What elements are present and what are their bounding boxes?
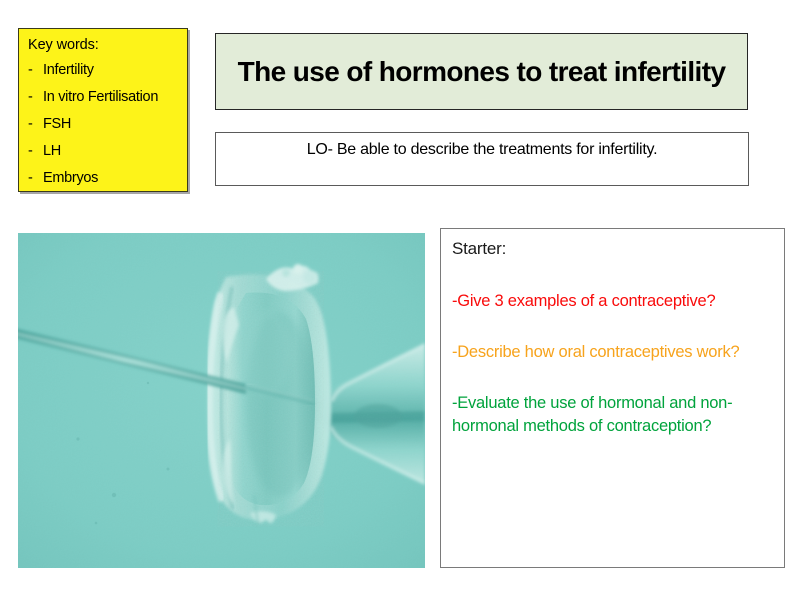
starter-label: Starter: [452,238,774,260]
bullet-dash-icon: - [28,138,43,165]
learning-objective-text: LO- Be able to describe the treatments f… [307,140,658,160]
bullet-dash-icon: - [28,57,43,84]
key-words-box: Key words: - Infertility - In vitro Fert… [18,28,188,192]
page-title: The use of hormones to treat infertility [238,56,726,88]
bullet-dash-icon: - [28,84,43,111]
icsi-micrograph-svg [18,233,425,568]
starter-question-1: -Give 3 examples of a contraceptive? [452,290,774,313]
key-word-label: In vitro Fertilisation [43,84,179,111]
slide-canvas: Key words: - Infertility - In vitro Fert… [0,0,800,600]
bullet-dash-icon: - [28,165,43,192]
key-word-label: Embryos [43,165,179,192]
key-words-heading: Key words: [28,36,179,54]
key-word-label: Infertility [43,57,179,84]
key-word-label: LH [43,138,179,165]
key-word-item-lh: - LH [28,138,179,165]
starter-questions-box: Starter: -Give 3 examples of a contracep… [440,228,785,568]
slide-title-banner: The use of hormones to treat infertility [215,33,748,110]
bullet-dash-icon: - [28,111,43,138]
starter-question-3: -Evaluate the use of hormonal and non-ho… [452,392,774,438]
key-word-item-infertility: - Infertility [28,57,179,84]
learning-objective-box: LO- Be able to describe the treatments f… [215,132,749,186]
key-word-item-fsh: - FSH [28,111,179,138]
starter-question-2: -Describe how oral contraceptives work? [452,341,774,364]
key-word-label: FSH [43,111,179,138]
key-word-item-embryos: - Embryos [28,165,179,192]
key-word-item-ivf: - In vitro Fertilisation [28,84,179,111]
icsi-micrograph-image [18,233,425,568]
